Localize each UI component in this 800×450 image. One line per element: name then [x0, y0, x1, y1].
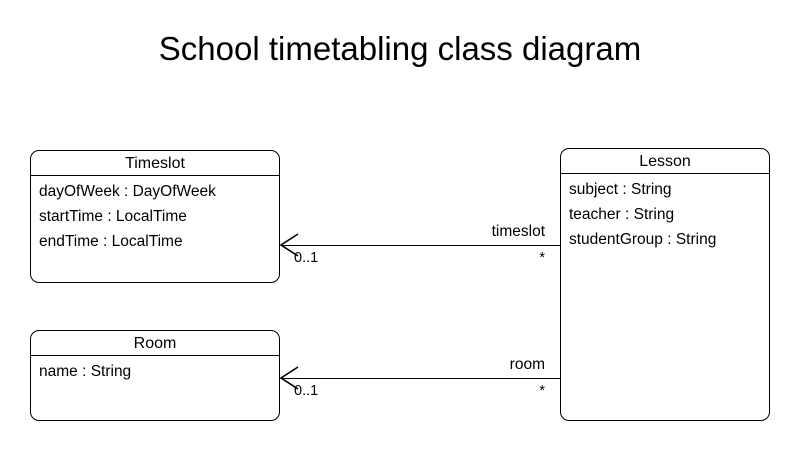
uml-class-lesson[interactable]: Lesson subject : String teacher : String… [560, 148, 770, 421]
association-label-timeslot: timeslot [345, 222, 545, 241]
uml-attributes-lesson: subject : String teacher : String studen… [561, 174, 769, 252]
uml-attribute: name : String [39, 359, 279, 384]
association-label-room: room [345, 355, 545, 374]
uml-class-room[interactable]: Room name : String [30, 330, 280, 421]
association-line-lesson-room [281, 378, 561, 379]
uml-class-name-room: Room [31, 331, 279, 356]
uml-attribute: endTime : LocalTime [39, 229, 279, 254]
association-multiplicity-room-source: * [445, 382, 545, 400]
association-multiplicity-timeslot-source: * [445, 249, 545, 267]
class-diagram-canvas: School timetabling class diagram Timeslo… [0, 0, 800, 450]
uml-attribute: teacher : String [569, 202, 769, 227]
page-title: School timetabling class diagram [0, 30, 800, 68]
uml-attribute: subject : String [569, 177, 769, 202]
uml-class-name-timeslot: Timeslot [31, 151, 279, 176]
uml-attributes-room: name : String [31, 356, 279, 384]
uml-class-timeslot[interactable]: Timeslot dayOfWeek : DayOfWeek startTime… [30, 150, 280, 283]
association-multiplicity-timeslot-target: 0..1 [294, 249, 318, 267]
association-multiplicity-room-target: 0..1 [294, 382, 318, 400]
uml-attributes-timeslot: dayOfWeek : DayOfWeek startTime : LocalT… [31, 176, 279, 254]
uml-attribute: startTime : LocalTime [39, 204, 279, 229]
association-line-lesson-timeslot [281, 245, 561, 246]
uml-attribute: studentGroup : String [569, 227, 769, 252]
uml-attribute: dayOfWeek : DayOfWeek [39, 179, 279, 204]
uml-class-name-lesson: Lesson [561, 149, 769, 174]
